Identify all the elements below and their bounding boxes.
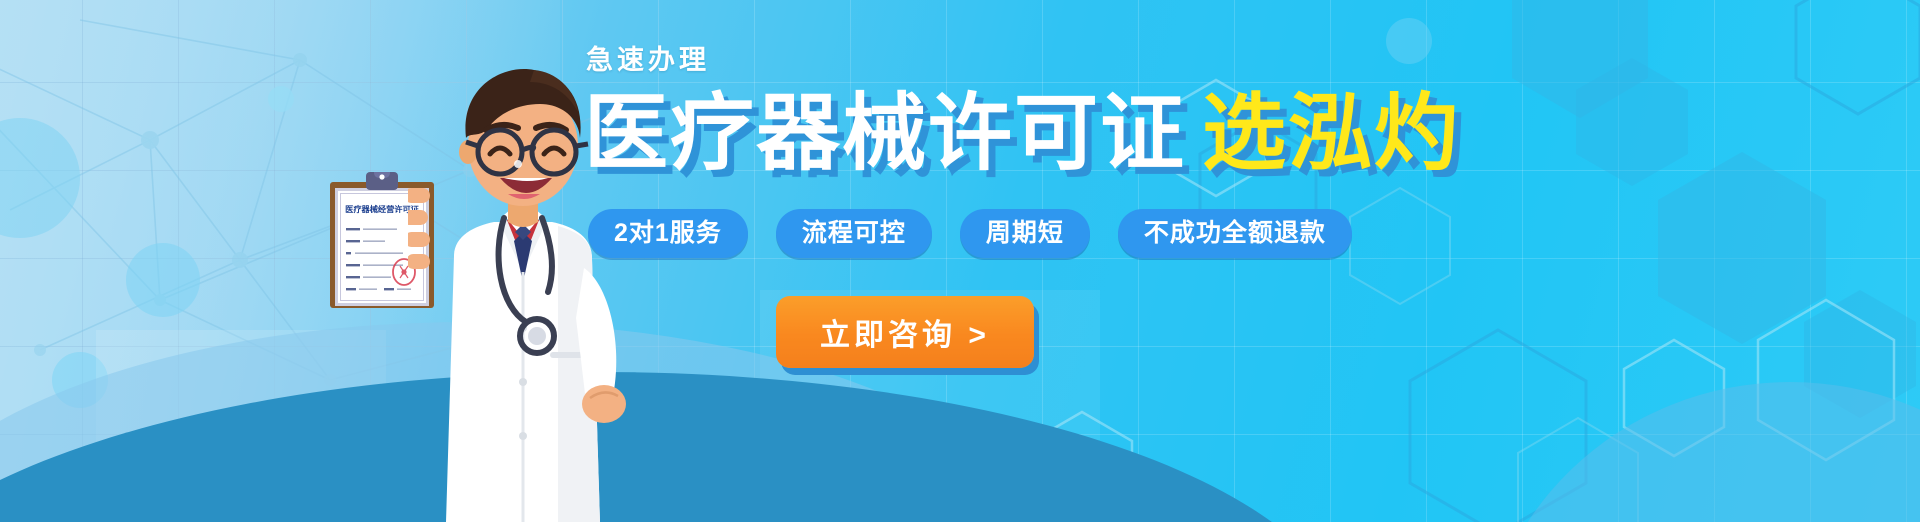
feature-pill: 2对1服务 — [588, 209, 748, 258]
copy-block: 急速办理 医疗器械许可证 选泓灼 2对1服务 流程可控 周期短 不成功全额退款 … — [584, 38, 1344, 368]
headline-accent: 选泓灼 — [1202, 91, 1460, 175]
eyebrow-text: 急速办理 — [586, 38, 1344, 77]
feature-pill: 不成功全额退款 — [1118, 209, 1352, 258]
page-title: 医疗器械许可证 选泓灼 — [584, 91, 1344, 175]
cta-area: 立即咨询 > — [776, 296, 1344, 368]
feature-pill-list: 2对1服务 流程可控 周期短 不成功全额退款 — [588, 209, 1344, 258]
feature-pill: 周期短 — [960, 209, 1090, 258]
promo-banner: 医疗器械经营许可证 — [0, 0, 1920, 522]
consult-now-button[interactable]: 立即咨询 > — [776, 296, 1034, 368]
headline-primary: 医疗器械许可证 — [584, 91, 1186, 175]
feature-pill: 流程可控 — [776, 209, 932, 258]
glow-blob — [268, 86, 294, 112]
glow-blob — [126, 243, 200, 317]
